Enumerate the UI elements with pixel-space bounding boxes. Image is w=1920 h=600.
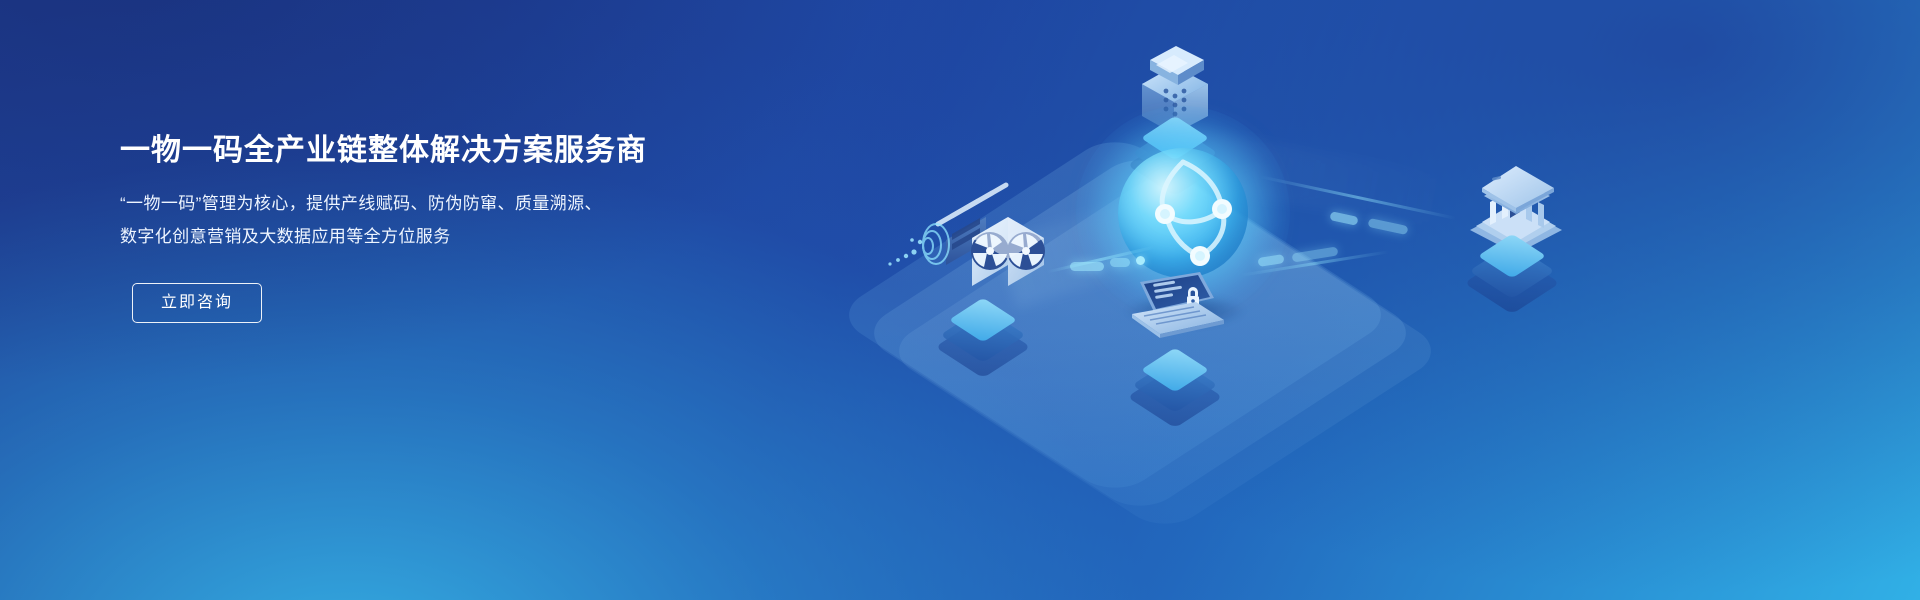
pedestal-laptop (1148, 350, 1202, 390)
data-pill-1 (1070, 262, 1104, 271)
hero-illustration (860, 0, 1920, 600)
hero-subtitle-line-2: 数字化创意营销及大数据应用等全方位服务 (120, 220, 820, 253)
page-title: 一物一码全产业链整体解决方案服务商 (120, 131, 820, 171)
pedestal-bank (1485, 236, 1539, 276)
hero-banner: 一物一码全产业链整体解决方案服务商 “一物一码”管理为核心，提供产线赋码、防伪防… (0, 0, 1920, 600)
hero-subtitle-line-1: “一物一码”管理为核心，提供产线赋码、防伪防窜、质量溯源、 (120, 187, 820, 220)
data-dot-1 (1136, 256, 1145, 265)
pedestal-server (956, 300, 1010, 340)
airflow-swirl-icon (874, 214, 964, 284)
data-pill-2 (1110, 258, 1130, 267)
consult-now-button[interactable]: 立即咨询 (132, 283, 262, 323)
hero-copy: 一物一码全产业链整体解决方案服务商 “一物一码”管理为核心，提供产线赋码、防伪防… (120, 131, 820, 323)
laptop-security-icon (1122, 268, 1232, 358)
